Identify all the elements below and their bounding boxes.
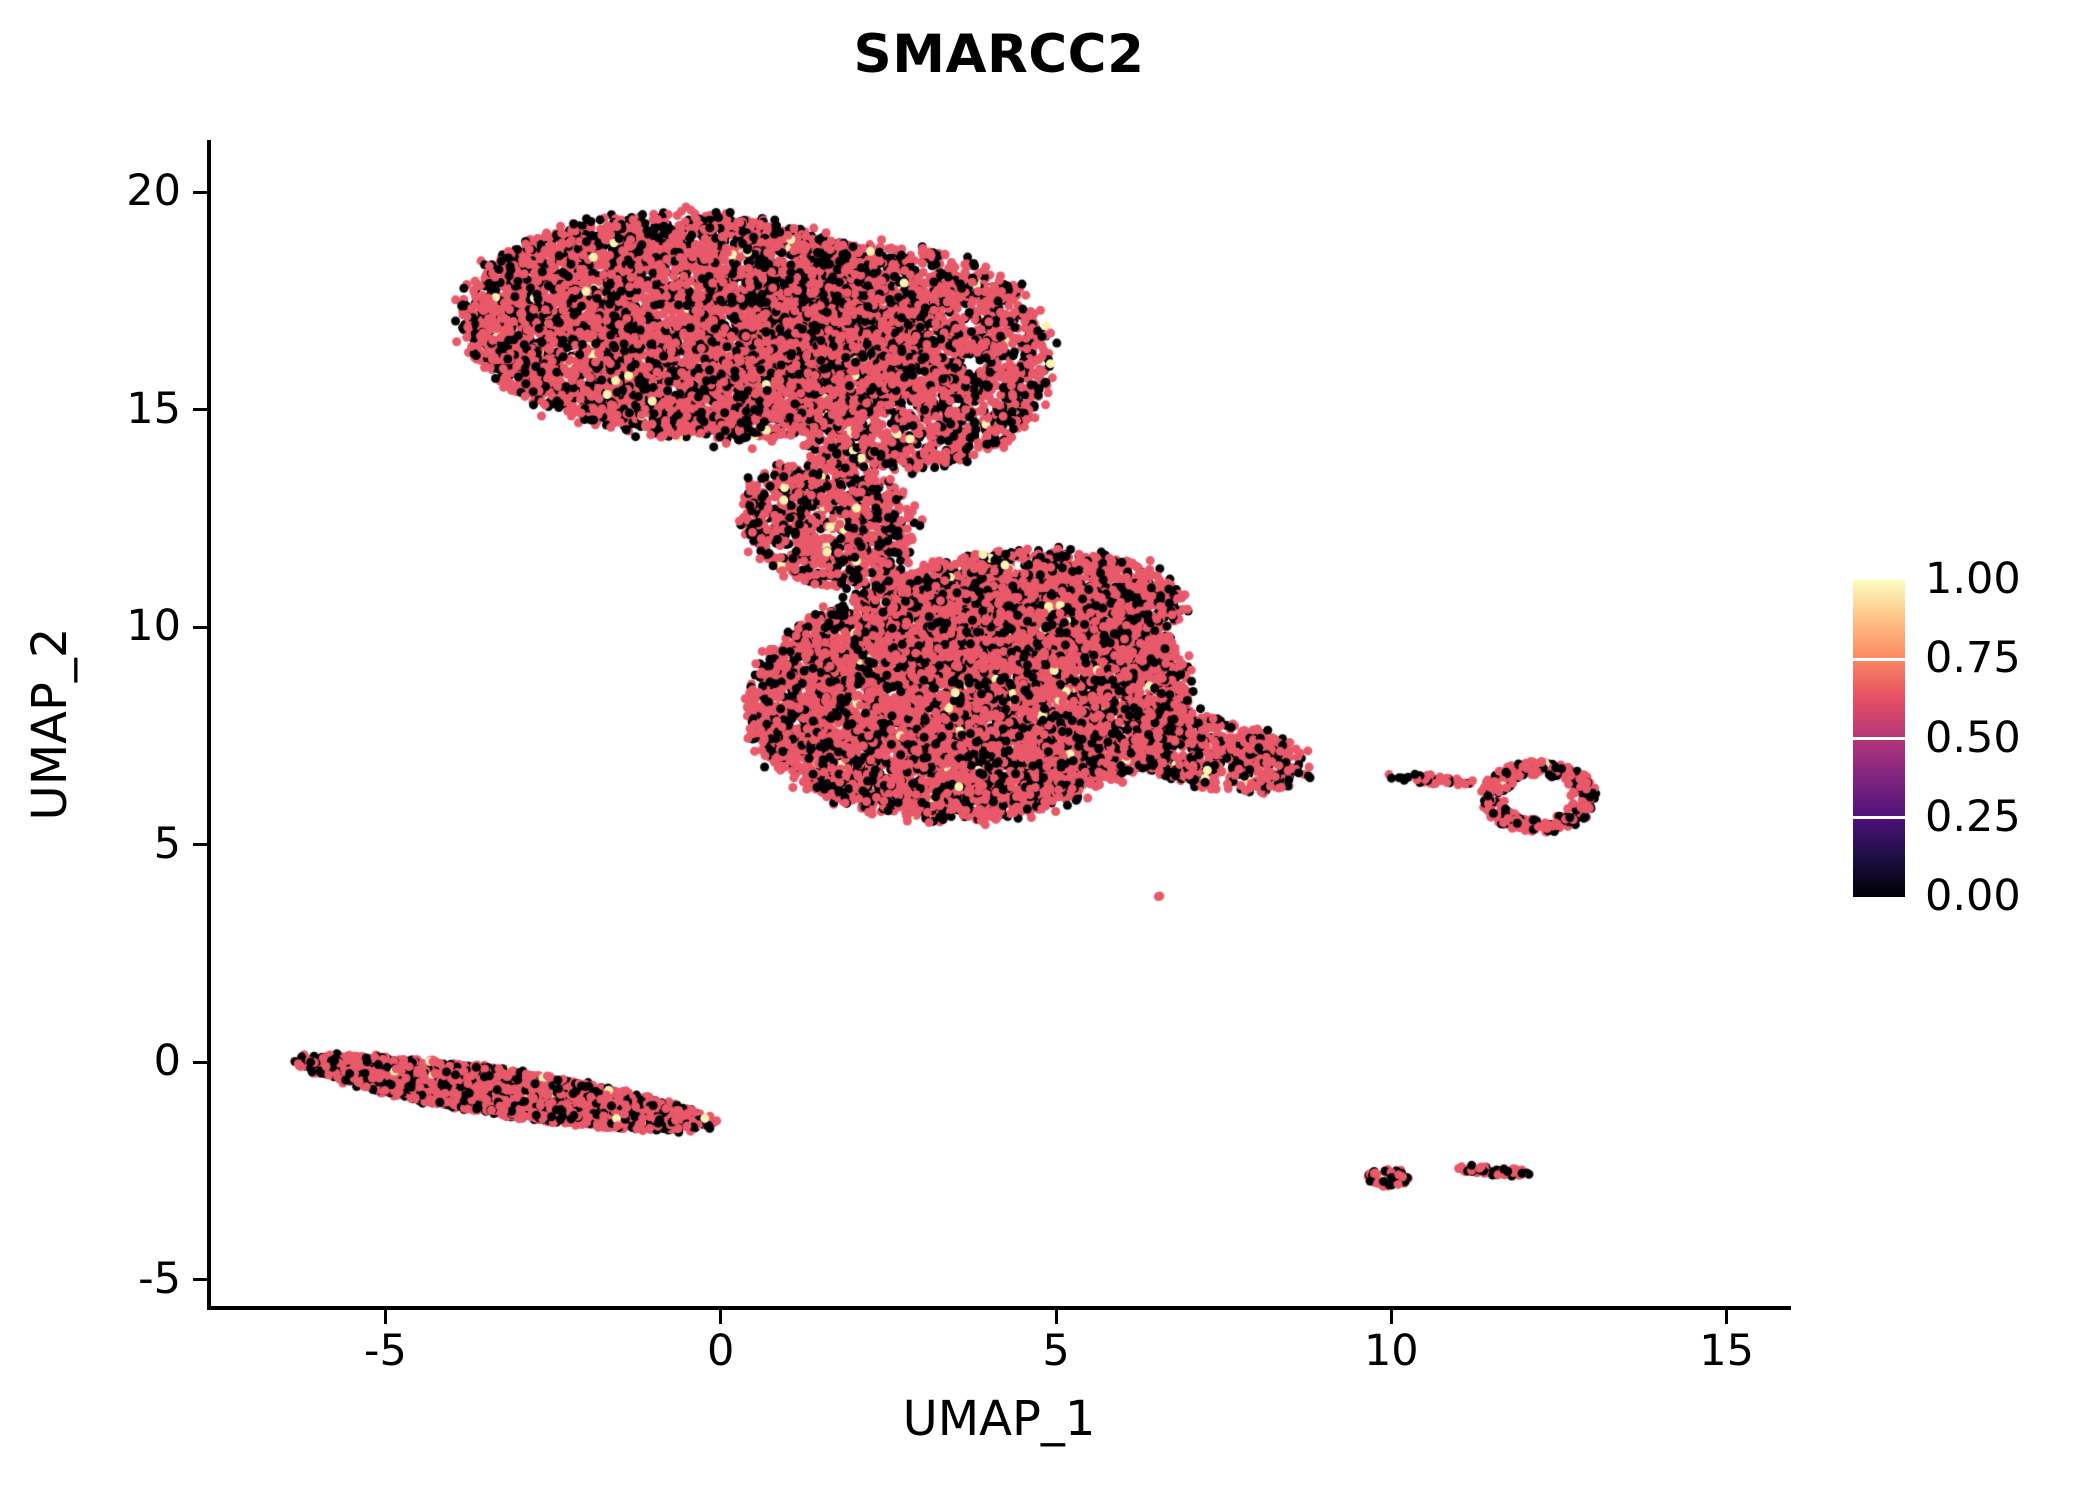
colorbar-tick-mark	[1853, 816, 1905, 819]
y-axis-spine	[207, 140, 211, 1306]
plot-axes: -5051015 -505101520	[211, 140, 1787, 1306]
y-tick-mark	[193, 191, 207, 194]
x-tick-mark	[1725, 1310, 1728, 1324]
y-tick-mark	[193, 843, 207, 846]
x-tick-label: 10	[1291, 1330, 1491, 1373]
colorbar-tick-label: 0.50	[1925, 717, 2021, 760]
scatter-plot-canvas	[211, 140, 1787, 1306]
colorbar-tick-label: 0.25	[1925, 796, 2021, 839]
y-tick-mark	[193, 626, 207, 629]
colorbar-tick-label: 1.00	[1925, 558, 2021, 601]
umap-figure: SMARCC2 -5051015 -505101520 UMAP_1 UMAP_…	[0, 0, 2100, 1500]
page-title: SMARCC2	[211, 28, 1787, 81]
colorbar: 0.000.250.500.751.00	[1853, 580, 2093, 910]
x-tick-label: -5	[285, 1330, 485, 1373]
colorbar-tick-label: 0.75	[1925, 637, 2021, 680]
colorbar-tick-label: 0.00	[1925, 875, 2021, 918]
x-tick-label: 5	[956, 1330, 1156, 1373]
x-axis-label: UMAP_1	[211, 1395, 1787, 1443]
x-tick-mark	[1055, 1310, 1058, 1324]
colorbar-tick-mark	[1853, 894, 1905, 897]
x-tick-label: 0	[621, 1330, 821, 1373]
x-axis-spine	[207, 1306, 1791, 1310]
x-tick-label: 15	[1627, 1330, 1827, 1373]
y-tick-mark	[193, 1278, 207, 1281]
y-axis-label: UMAP_2	[26, 141, 74, 1307]
x-tick-mark	[384, 1310, 387, 1324]
colorbar-tick-mark	[1853, 658, 1905, 661]
colorbar-tick-mark	[1853, 737, 1905, 740]
x-tick-mark	[1390, 1310, 1393, 1324]
colorbar-tick-mark	[1853, 580, 1905, 583]
y-tick-mark	[193, 408, 207, 411]
x-tick-mark	[719, 1310, 722, 1324]
y-tick-mark	[193, 1061, 207, 1064]
